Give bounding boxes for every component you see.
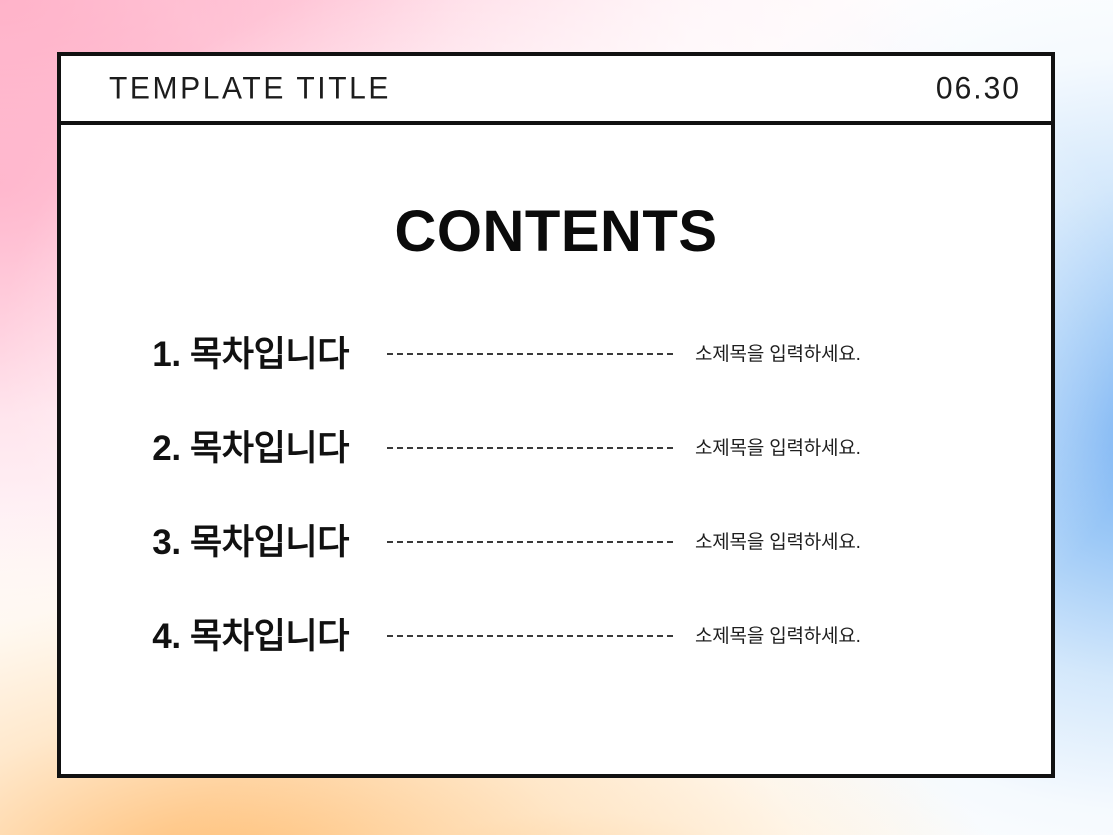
contents-item-label: 4. 목차입니다	[61, 619, 349, 654]
contents-item-subtitle: 소제목을 입력하세요.	[695, 627, 861, 646]
contents-item-label: 3. 목차입니다	[61, 525, 349, 560]
dashed-connector	[387, 635, 673, 637]
template-title: TEMPLATE TITLE	[109, 73, 391, 105]
contents-row[interactable]: 3. 목차입니다 소제목을 입력하세요.	[61, 495, 1051, 589]
contents-item-label: 1. 목차입니다	[61, 337, 349, 372]
contents-item-subtitle: 소제목을 입력하세요.	[695, 439, 861, 458]
contents-item-subtitle: 소제목을 입력하세요.	[695, 533, 861, 552]
header-date: 06.30	[936, 73, 1021, 105]
slide-canvas: TEMPLATE TITLE 06.30 CONTENTS 1. 목차입니다 소…	[0, 0, 1113, 835]
contents-row[interactable]: 4. 목차입니다 소제목을 입력하세요.	[61, 589, 1051, 683]
contents-item-subtitle: 소제목을 입력하세요.	[695, 345, 861, 364]
dashed-connector	[387, 353, 673, 355]
page-title: CONTENTS	[61, 203, 1051, 261]
dashed-connector	[387, 447, 673, 449]
contents-row[interactable]: 2. 목차입니다 소제목을 입력하세요.	[61, 401, 1051, 495]
slide-body: CONTENTS 1. 목차입니다 소제목을 입력하세요. 2. 목차입니다 소…	[61, 125, 1051, 774]
slide-card: TEMPLATE TITLE 06.30 CONTENTS 1. 목차입니다 소…	[57, 52, 1055, 778]
contents-item-label: 2. 목차입니다	[61, 431, 349, 466]
dashed-connector	[387, 541, 673, 543]
slide-header: TEMPLATE TITLE 06.30	[61, 56, 1051, 125]
contents-list: 1. 목차입니다 소제목을 입력하세요. 2. 목차입니다 소제목을 입력하세요…	[61, 307, 1051, 683]
contents-row[interactable]: 1. 목차입니다 소제목을 입력하세요.	[61, 307, 1051, 401]
